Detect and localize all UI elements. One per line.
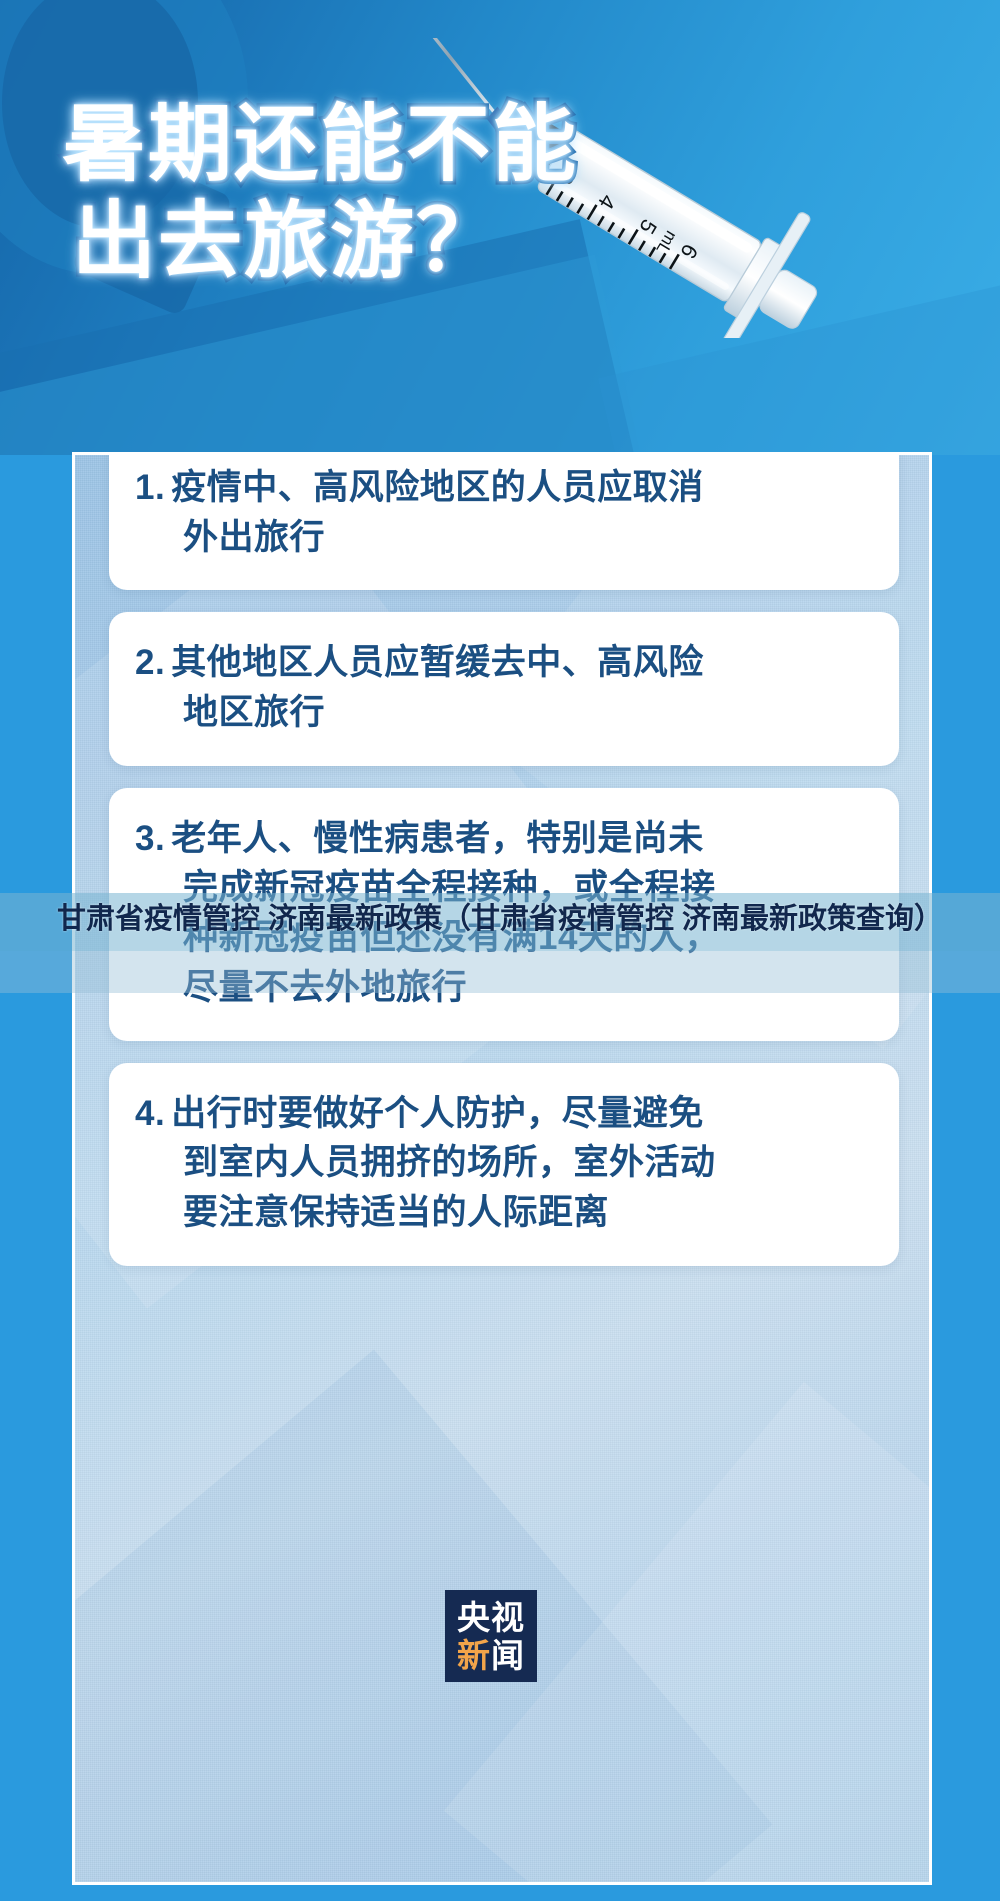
headline-line-1: 暑期还能不能: [62, 96, 702, 193]
advice-number-3: 3.: [135, 819, 165, 858]
advice-text-1: 1.疫情中、高风险地区的人员应取消 外出旅行: [135, 463, 869, 562]
hero-banner: 3 4 5 mL 6 暑期还能不能 出去旅游？: [0, 0, 1000, 455]
advice-text-2: 2.其他地区人员应暂缓去中、高风险 地区旅行: [135, 638, 869, 737]
advice-number-4: 4.: [135, 1094, 165, 1133]
list-item: 4.出行时要做好个人防护，尽量避免 到室内人员拥挤的场所，室外活动 要注意保持适…: [109, 1063, 899, 1266]
logo-row-top: 央 视: [457, 1601, 525, 1634]
cctv-news-logo: 央 视 新 闻: [445, 1590, 537, 1682]
advice-text-4: 4.出行时要做好个人防护，尽量避免 到室内人员拥挤的场所，室外活动 要注意保持适…: [135, 1089, 869, 1238]
headline-line-2: 出去旅游？: [72, 193, 702, 290]
advice-line-4-1: 出行时要做好个人防护，尽量避免: [171, 1094, 704, 1133]
advice-line-4-2: 到室内人员拥挤的场所，室外活动: [135, 1138, 869, 1188]
list-item: 1.疫情中、高风险地区的人员应取消 外出旅行: [109, 452, 899, 590]
logo-char-xin: 新: [457, 1639, 491, 1672]
advice-line-4-3: 要注意保持适当的人际距离: [135, 1188, 869, 1238]
watermark-text: 甘肃省疫情管控 济南最新政策（甘肃省疫情管控 济南最新政策查询）: [0, 898, 1000, 940]
advice-line-2-2: 地区旅行: [135, 688, 869, 738]
advice-line-3-1: 老年人、慢性病患者，特别是尚未: [171, 819, 704, 858]
logo-char-shi: 视: [491, 1601, 525, 1634]
list-item: 2.其他地区人员应暂缓去中、高风险 地区旅行: [109, 612, 899, 765]
logo-char-yang: 央: [457, 1601, 491, 1634]
logo-row-bottom: 新 闻: [457, 1639, 525, 1672]
advice-line-1-2: 外出旅行: [135, 513, 869, 563]
advice-card-list: 1.疫情中、高风险地区的人员应取消 外出旅行 2.其他地区人员应暂缓去中、高风险…: [109, 452, 899, 1288]
advice-number-2: 2.: [135, 643, 165, 682]
advice-line-2-1: 其他地区人员应暂缓去中、高风险: [171, 643, 704, 682]
watermark-band-lower: [0, 951, 1000, 993]
advice-line-1-1: 疫情中、高风险地区的人员应取消: [171, 468, 704, 507]
page-title: 暑期还能不能 出去旅游？: [62, 96, 702, 291]
advice-number-1: 1.: [135, 468, 165, 507]
poster-root: 3 4 5 mL 6 暑期还能不能 出去旅游？: [0, 0, 1000, 1901]
logo-char-wen: 闻: [491, 1639, 525, 1672]
